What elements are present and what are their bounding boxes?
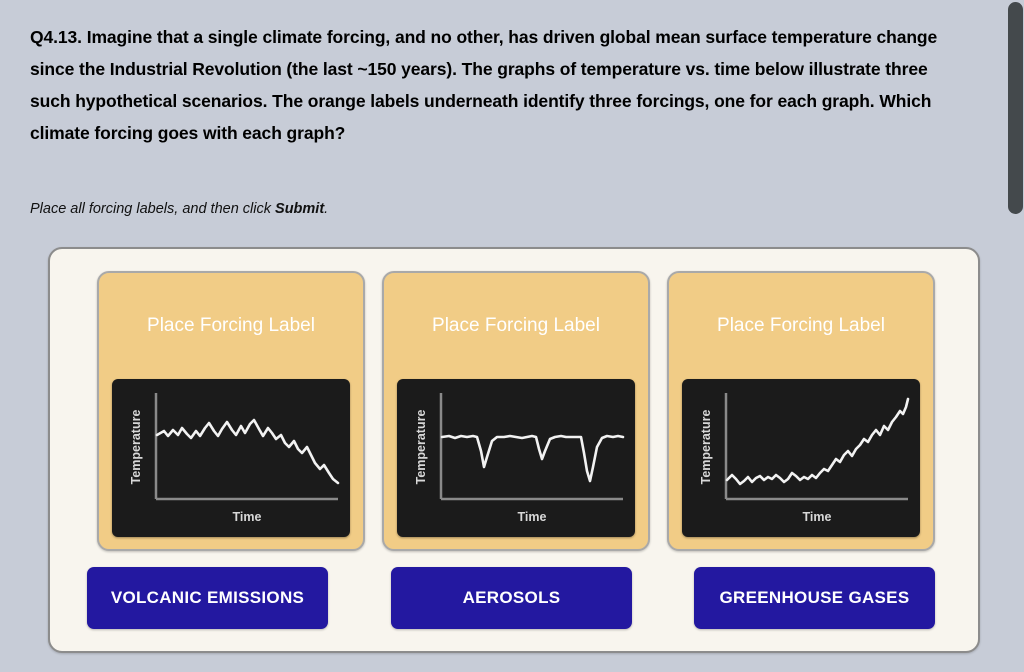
drop-target-label-3[interactable]: Place Forcing Label [669, 273, 933, 379]
forcing-cards-row: Place Forcing Label Temperature Time [50, 271, 978, 553]
question-text: Q4.13. Imagine that a single climate for… [30, 22, 970, 149]
page-scrollbar-thumb[interactable] [1008, 2, 1023, 214]
graph-2-xlabel: Time [518, 510, 547, 524]
question-block: Q4.13. Imagine that a single climate for… [30, 22, 970, 149]
answer-chip-volcanic-emissions[interactable]: VOLCANIC EMISSIONS [87, 567, 328, 629]
forcing-card-2[interactable]: Place Forcing Label Temperature Time [382, 271, 650, 551]
activity-panel: Place Forcing Label Temperature Time [48, 247, 980, 653]
drop-target-label-2[interactable]: Place Forcing Label [384, 273, 648, 379]
graph-2-dataline [442, 436, 623, 481]
instruction-prefix: Place all forcing labels, and then click [30, 201, 275, 217]
answer-chip-greenhouse-gases[interactable]: GREENHOUSE GASES [694, 567, 935, 629]
forcing-card-3[interactable]: Place Forcing Label Temperature Time [667, 271, 935, 551]
forcing-card-1[interactable]: Place Forcing Label Temperature Time [97, 271, 365, 551]
graph-1-ylabel: Temperature [129, 410, 143, 485]
graph-1: Temperature Time [112, 379, 350, 537]
graph-1-dataline [157, 420, 338, 483]
answer-chips-row: VOLCANIC EMISSIONS AEROSOLS GREENHOUSE G… [50, 567, 978, 633]
drop-target-label-1[interactable]: Place Forcing Label [99, 273, 363, 379]
submit-keyword: Submit [275, 201, 324, 217]
page-scrollbar-track[interactable] [1007, 0, 1024, 672]
graph-1-xlabel: Time [233, 510, 262, 524]
graph-3-xlabel: Time [803, 510, 832, 524]
graph-3: Temperature Time [682, 379, 920, 537]
answer-chip-aerosols[interactable]: AEROSOLS [391, 567, 632, 629]
graph-3-dataline [727, 399, 908, 484]
page-content: Q4.13. Imagine that a single climate for… [0, 0, 1000, 672]
graph-2-ylabel: Temperature [414, 410, 428, 485]
instruction-suffix: . [324, 201, 328, 217]
instruction-text: Place all forcing labels, and then click… [30, 201, 328, 217]
graph-2: Temperature Time [397, 379, 635, 537]
graph-3-ylabel: Temperature [699, 410, 713, 485]
